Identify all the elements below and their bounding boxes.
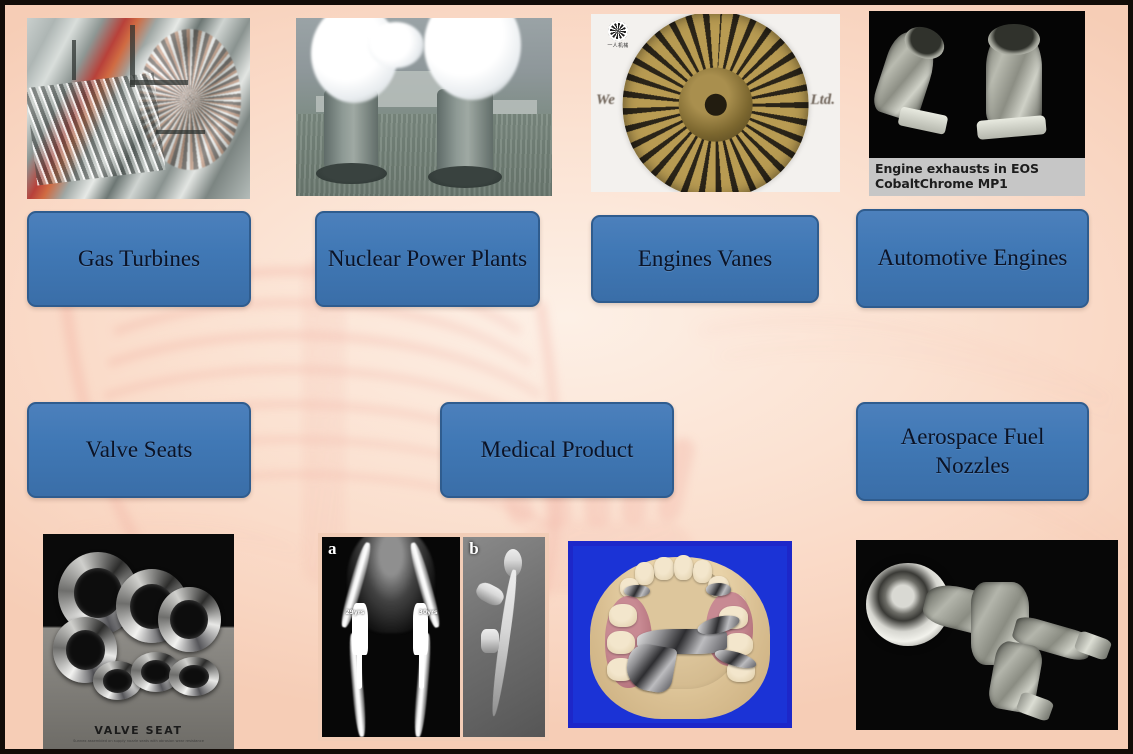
label-engines-vanes[interactable]: Engines Vanes <box>591 215 819 303</box>
label-automotive-engines[interactable]: Automotive Engines <box>856 209 1089 308</box>
cooling-tower-shape <box>437 89 493 182</box>
annotation-left: 29yrs <box>346 609 365 616</box>
nuclear-cooling-towers-photo <box>296 18 552 196</box>
label-text: Engines Vanes <box>638 245 772 273</box>
valve-seat-ring <box>169 657 219 696</box>
radiograph-panel-b: b <box>463 537 545 737</box>
metal-clasp <box>706 583 732 595</box>
incisor-tooth <box>654 557 673 580</box>
nozzle-fitting-lower <box>1016 691 1055 722</box>
implant-stem-right <box>419 649 425 689</box>
photo-watermark-text: We Ltd. <box>596 92 835 109</box>
label-text: Valve Seats <box>86 436 193 464</box>
label-aerospace-fuel-nozzles[interactable]: Aerospace Fuel Nozzles <box>856 402 1089 501</box>
watermark-left: We <box>596 92 615 109</box>
label-nuclear-power-plants[interactable]: Nuclear Power Plants <box>315 211 540 307</box>
valve-seat-title: VALVE SEAT <box>43 724 234 737</box>
manufacturer-logo: 一人机械 <box>601 21 635 49</box>
implant-stem-left <box>357 649 363 689</box>
denture-tooth-left <box>609 604 637 627</box>
turbine-casing-bar <box>156 130 205 134</box>
gas-turbine-cutaway-photo <box>27 18 250 199</box>
valve-seat-rings-photo: VALVE SEAT Sunnex assembled on supply no… <box>43 534 234 753</box>
turbine-casing-bar <box>130 80 188 85</box>
logo-mark-icon <box>608 21 628 41</box>
watermark-right: Ltd. <box>810 92 835 109</box>
dental-photo-inner <box>573 546 787 723</box>
label-text: Aerospace Fuel Nozzles <box>864 423 1081 479</box>
label-gas-turbines[interactable]: Gas Turbines <box>27 211 251 307</box>
label-text: Medical Product <box>481 436 634 464</box>
valve-seat-caption: VALVE SEAT Sunnex assembled on supply no… <box>43 724 234 744</box>
engine-vane-ring-photo: 一人机械 We Ltd. <box>591 14 840 192</box>
turbine-casing-bar <box>130 25 135 87</box>
exhaust-mouth-right <box>988 24 1040 55</box>
turbine-casing-bar <box>72 40 76 80</box>
logo-caption: 一人机械 <box>601 42 635 49</box>
partial-denture-dental-model-photo <box>568 541 792 728</box>
aerospace-fuel-nozzle-photo <box>856 540 1118 730</box>
implant-second-shape <box>474 580 507 609</box>
exhaust-flange-left <box>898 106 948 134</box>
hip-implant-radiograph-photo: 29yrs 30yrs a b <box>318 533 549 741</box>
valve-seat-ring <box>158 587 221 653</box>
label-valve-seats[interactable]: Valve Seats <box>27 402 251 498</box>
canine-tooth <box>635 562 654 585</box>
incisor-tooth <box>674 555 693 580</box>
label-text: Nuclear Power Plants <box>328 245 527 273</box>
valve-seat-subtitle: Sunnex assembled on supply nozzle seats … <box>43 739 234 744</box>
label-medical-product[interactable]: Medical Product <box>440 402 674 498</box>
engine-exhaust-parts-photo: Engine exhausts in EOS CobaltChrome MP1 <box>869 11 1085 196</box>
plant-building-shape <box>485 100 536 114</box>
label-text: Automotive Engines <box>878 244 1068 272</box>
radiograph-panel-a: 29yrs 30yrs a <box>322 537 460 737</box>
panel-label-b: b <box>469 539 478 559</box>
turbine-blades-shape <box>27 72 166 185</box>
label-text: Gas Turbines <box>78 245 200 273</box>
steam-plume-shape <box>368 22 424 68</box>
implant-cup-shape <box>481 629 499 653</box>
panel-label-a: a <box>328 539 337 559</box>
annotation-right: 30yrs <box>419 609 438 616</box>
photo-caption: Engine exhausts in EOS CobaltChrome MP1 <box>869 158 1085 197</box>
slide-canvas: 一人机械 We Ltd. Engine exhausts in EOS Coba… <box>0 0 1133 754</box>
